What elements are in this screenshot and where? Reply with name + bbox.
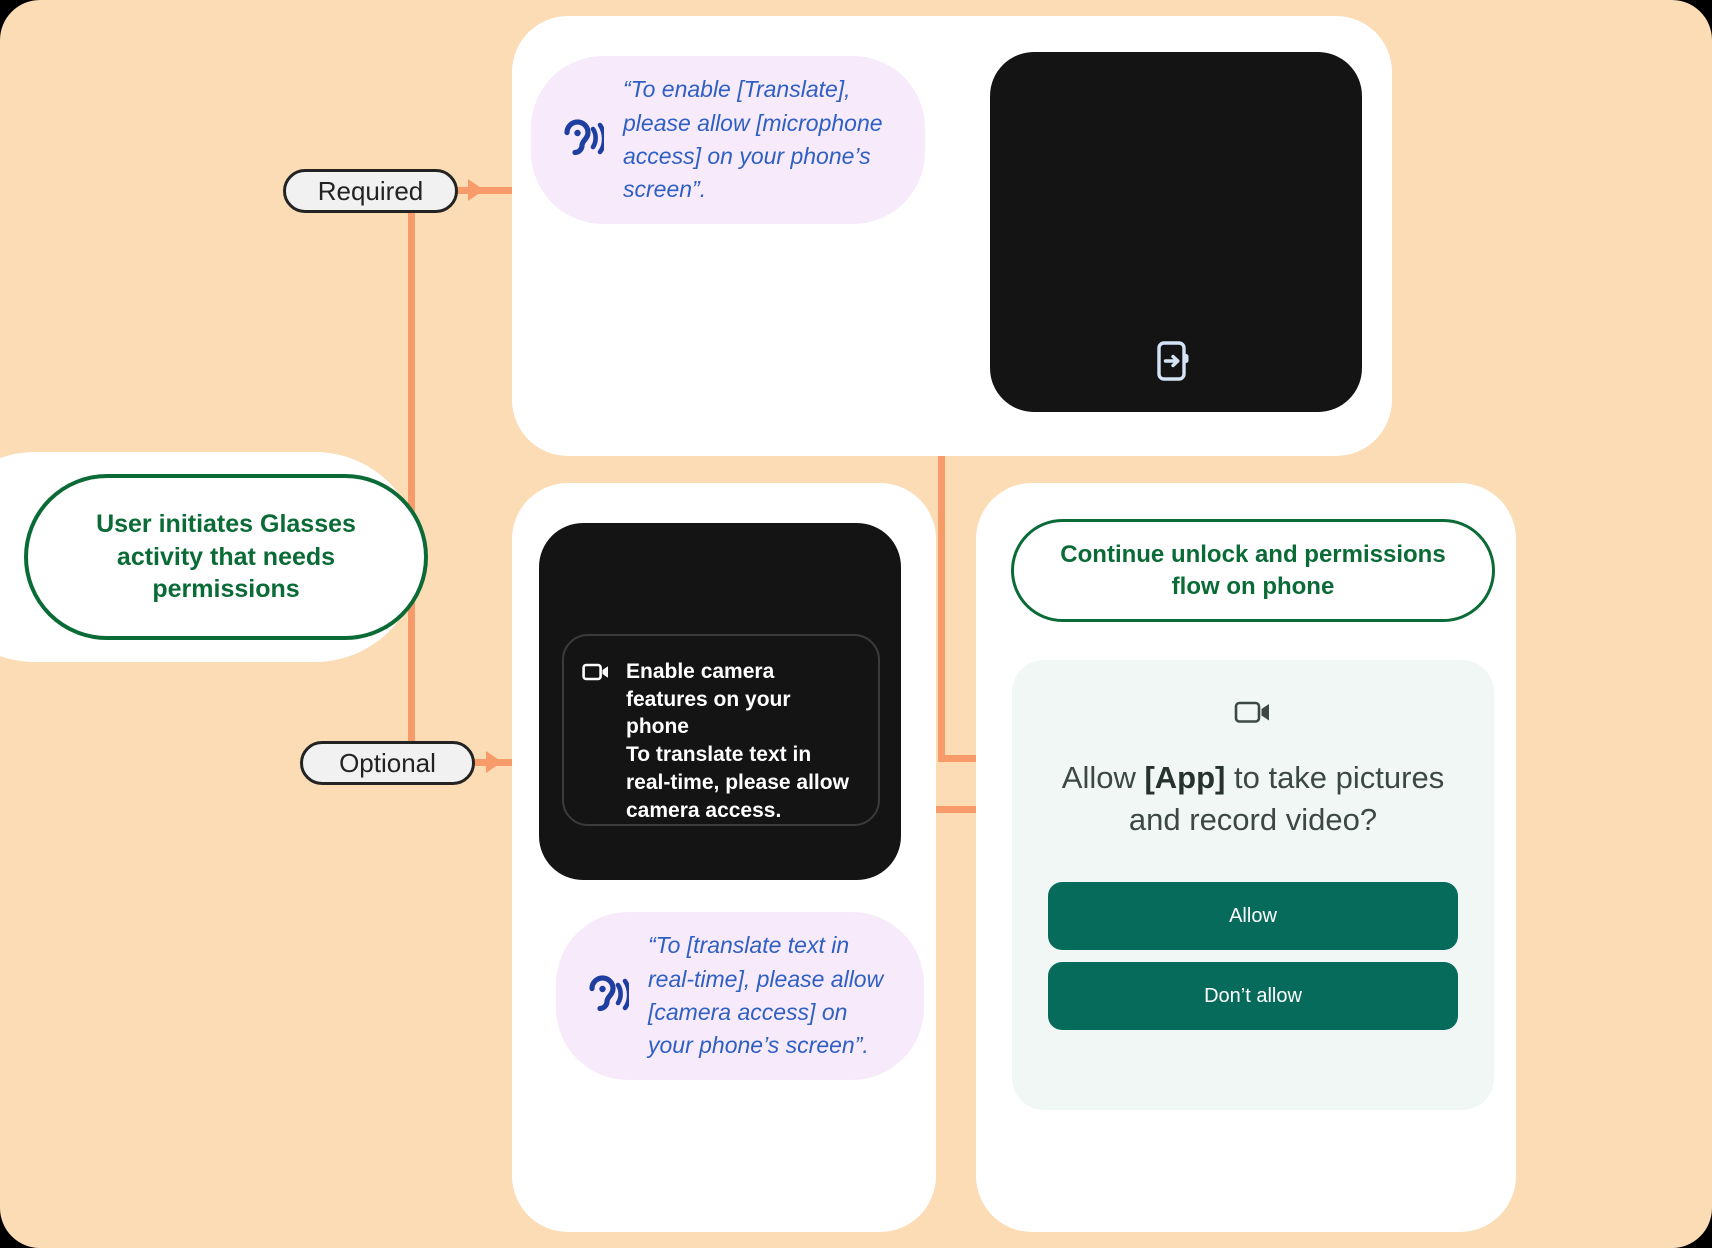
ear-hearing-icon xyxy=(578,975,636,1017)
video-camera-icon xyxy=(1234,698,1272,731)
branch-label-optional[interactable]: Optional xyxy=(300,741,475,785)
speech-bubble-microphone-text: “To enable [Translate], please allow [mi… xyxy=(623,73,899,206)
glasses-notification-card: Enable camera features on your phone To … xyxy=(562,634,880,826)
branch-label-required-text: Required xyxy=(318,176,424,207)
branch-label-required[interactable]: Required xyxy=(283,169,458,213)
connector-required-horizontal xyxy=(455,187,520,194)
dont-allow-button[interactable]: Don’t allow xyxy=(1048,962,1458,1030)
connector-trunk-vertical xyxy=(408,190,415,763)
branch-label-optional-text: Optional xyxy=(339,748,436,779)
permission-dialog-title: Allow [App] to take pictures and record … xyxy=(1040,757,1466,840)
glasses-card-body: To translate text in real-time, please a… xyxy=(626,741,858,824)
video-camera-icon xyxy=(582,661,610,824)
start-node: User initiates Glasses activity that nee… xyxy=(24,474,428,640)
glasses-card-text: Enable camera features on your phone To … xyxy=(626,658,858,824)
phone-arrow-icon xyxy=(1152,339,1196,383)
speech-bubble-camera-text: “To [translate text in real-time], pleas… xyxy=(648,929,898,1062)
speech-bubble-camera: “To [translate text in real-time], pleas… xyxy=(556,912,924,1080)
permission-dialog: Allow [App] to take pictures and record … xyxy=(1012,660,1494,1110)
connector-optional-arrowhead xyxy=(486,751,502,773)
permission-dialog-app-token: [App] xyxy=(1144,760,1225,795)
start-node-label: User initiates Glasses activity that nee… xyxy=(58,508,394,606)
allow-button[interactable]: Allow xyxy=(1048,882,1458,950)
permission-dialog-title-prefix: Allow xyxy=(1062,760,1145,795)
flow-diagram-canvas: User initiates Glasses activity that nee… xyxy=(0,0,1712,1248)
glasses-card-title: Enable camera features on your phone xyxy=(626,658,858,741)
connector-required-arrowhead xyxy=(468,179,484,201)
continue-flow-node: Continue unlock and permissions flow on … xyxy=(1011,519,1495,622)
ear-hearing-icon xyxy=(553,119,611,161)
speech-bubble-microphone: “To enable [Translate], please allow [mi… xyxy=(531,56,925,224)
continue-flow-node-label: Continue unlock and permissions flow on … xyxy=(1040,539,1466,601)
